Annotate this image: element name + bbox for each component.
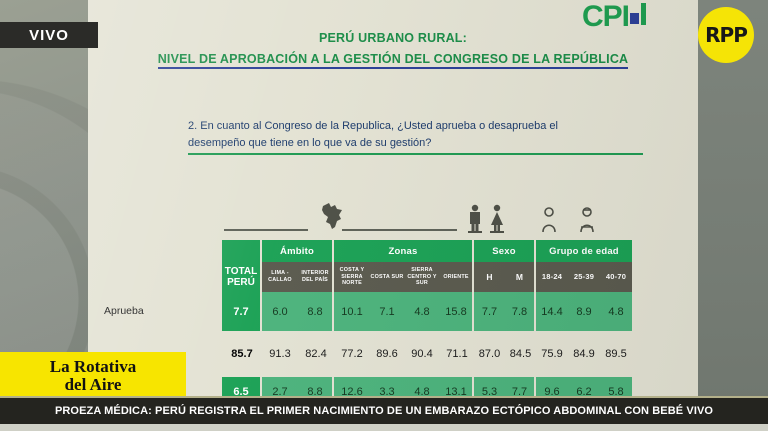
- survey-question-line2: desempeño que tiene en lo que va de su g…: [188, 135, 643, 155]
- row-gap-1: [222, 331, 632, 339]
- table-sub-header-row: TOTAL PERÚ LIMA - CALLAO INTERIOR DEL PA…: [222, 262, 632, 292]
- group-header-sexo: Sexo: [474, 240, 536, 262]
- row-label-aprueba: Aprueba: [104, 305, 144, 317]
- slide-title-line1: PERÚ URBANO RURAL:: [88, 31, 698, 45]
- male-figure-icon: [466, 204, 484, 234]
- total-peru-label-line2: PERÚ: [225, 277, 257, 288]
- zonas-underline: [342, 229, 457, 231]
- slide-title-line2: NIVEL DE APROBACIÓN A LA GESTIÓN DEL CON…: [88, 52, 698, 66]
- row0-hombre: 7.7: [474, 292, 505, 331]
- group-header-zonas: Zonas: [334, 240, 474, 262]
- ambito-underline: [224, 229, 308, 231]
- subheader-18-24: 18-24: [536, 262, 568, 292]
- subheader-hombre: H: [474, 262, 505, 292]
- row0-total: 7.7: [222, 292, 262, 331]
- group-header-grupo-edad: Grupo de edad: [536, 240, 632, 262]
- row0-lima-callao: 6.0: [262, 292, 298, 331]
- row0-costa-sur: 7.1: [370, 292, 404, 331]
- results-table: Ámbito Zonas Sexo Grupo de edad TOTAL PE…: [222, 240, 632, 401]
- broadcast-stage: CPI PERÚ URBANO RURAL: NIVEL DE APROBACI…: [0, 0, 768, 431]
- row1-hombre: 87.0: [474, 339, 505, 369]
- slide-title-line2-text: NIVEL DE APROBACIÓN A LA GESTIÓN DEL CON…: [158, 52, 629, 69]
- survey-question: 2. En cuanto al Congreso de la Republica…: [188, 118, 643, 155]
- row1-costa-sur: 89.6: [370, 339, 404, 369]
- row0-costa-sierra-norte: 10.1: [334, 292, 370, 331]
- row1-40-70: 89.5: [600, 339, 632, 369]
- row1-lima-callao: 91.3: [262, 339, 298, 369]
- row1-sierra-centro-sur: 90.4: [404, 339, 440, 369]
- rpp-logo-text: RPP: [705, 23, 747, 47]
- young-person-icon: [540, 207, 558, 233]
- news-ticker: PROEZA MÉDICA: PERÚ REGISTRA EL PRIMER N…: [0, 398, 768, 424]
- subheader-40-70: 40-70: [600, 262, 632, 292]
- table-group-header-row: Ámbito Zonas Sexo Grupo de edad: [222, 240, 632, 262]
- total-peru-header-spacer: [222, 240, 262, 262]
- program-title-box: La Rotativa del Aire: [0, 352, 186, 400]
- row0-mujer: 7.8: [505, 292, 536, 331]
- cpi-logo-bar-icon: [641, 3, 646, 25]
- survey-question-line1: 2. En cuanto al Congreso de la Republica…: [188, 118, 643, 135]
- row0-25-39: 8.9: [568, 292, 600, 331]
- row0-40-70: 4.8: [600, 292, 632, 331]
- live-badge: VIVO: [0, 22, 98, 48]
- presentation-slide: CPI PERÚ URBANO RURAL: NIVEL DE APROBACI…: [88, 0, 698, 401]
- table-row: 85.7 91.3 82.4 77.2 89.6 90.4 71.1 87.0 …: [222, 339, 632, 369]
- row1-mujer: 84.5: [505, 339, 536, 369]
- row0-18-24: 14.4: [536, 292, 568, 331]
- peru-map-icon: [316, 200, 348, 232]
- program-title-line1: La Rotativa: [50, 358, 136, 376]
- total-peru-header: TOTAL PERÚ: [222, 262, 262, 292]
- row1-costa-sierra-norte: 77.2: [334, 339, 370, 369]
- subheader-costa-sur: COSTA SUR: [370, 262, 404, 292]
- row-gap-2: [222, 369, 632, 377]
- row1-total: 85.7: [222, 339, 262, 369]
- cpi-logo: CPI: [582, 2, 646, 32]
- subheader-costa-sierra-norte: COSTA Y SIERRA NORTE: [334, 262, 370, 292]
- table-row: Aprueba 7.7 6.0 8.8 10.1 7.1 4.8 15.8 7.…: [222, 292, 632, 331]
- rpp-logo: RPP: [698, 7, 754, 63]
- category-icon-strip: [222, 196, 632, 238]
- total-peru-label-line1: TOTAL: [225, 266, 257, 277]
- subheader-interior-pais: INTERIOR DEL PAÍS: [298, 262, 334, 292]
- row1-18-24: 75.9: [536, 339, 568, 369]
- row0-oriente: 15.8: [440, 292, 474, 331]
- female-figure-icon: [488, 204, 506, 234]
- row1-interior-pais: 82.4: [298, 339, 334, 369]
- ticker-bottom-bar: [0, 424, 768, 431]
- cpi-logo-square-icon: [630, 13, 639, 24]
- subheader-oriente: ORIENTE: [440, 262, 474, 292]
- subheader-25-39: 25-39: [568, 262, 600, 292]
- subheader-sierra-centro-sur: SIERRA CENTRO Y SUR: [404, 262, 440, 292]
- row1-25-39: 84.9: [568, 339, 600, 369]
- group-header-ambito: Ámbito: [262, 240, 334, 262]
- older-person-icon: [578, 207, 596, 233]
- subheader-mujer: M: [505, 262, 536, 292]
- row1-oriente: 71.1: [440, 339, 474, 369]
- program-title-line2: del Aire: [65, 376, 122, 394]
- row0-sierra-centro-sur: 4.8: [404, 292, 440, 331]
- cpi-logo-text: CPI: [582, 2, 629, 32]
- row0-interior-pais: 8.8: [298, 292, 334, 331]
- ticker-top-rule: [0, 396, 768, 398]
- subheader-lima-callao: LIMA - CALLAO: [262, 262, 298, 292]
- news-ticker-text: PROEZA MÉDICA: PERÚ REGISTRA EL PRIMER N…: [55, 405, 713, 417]
